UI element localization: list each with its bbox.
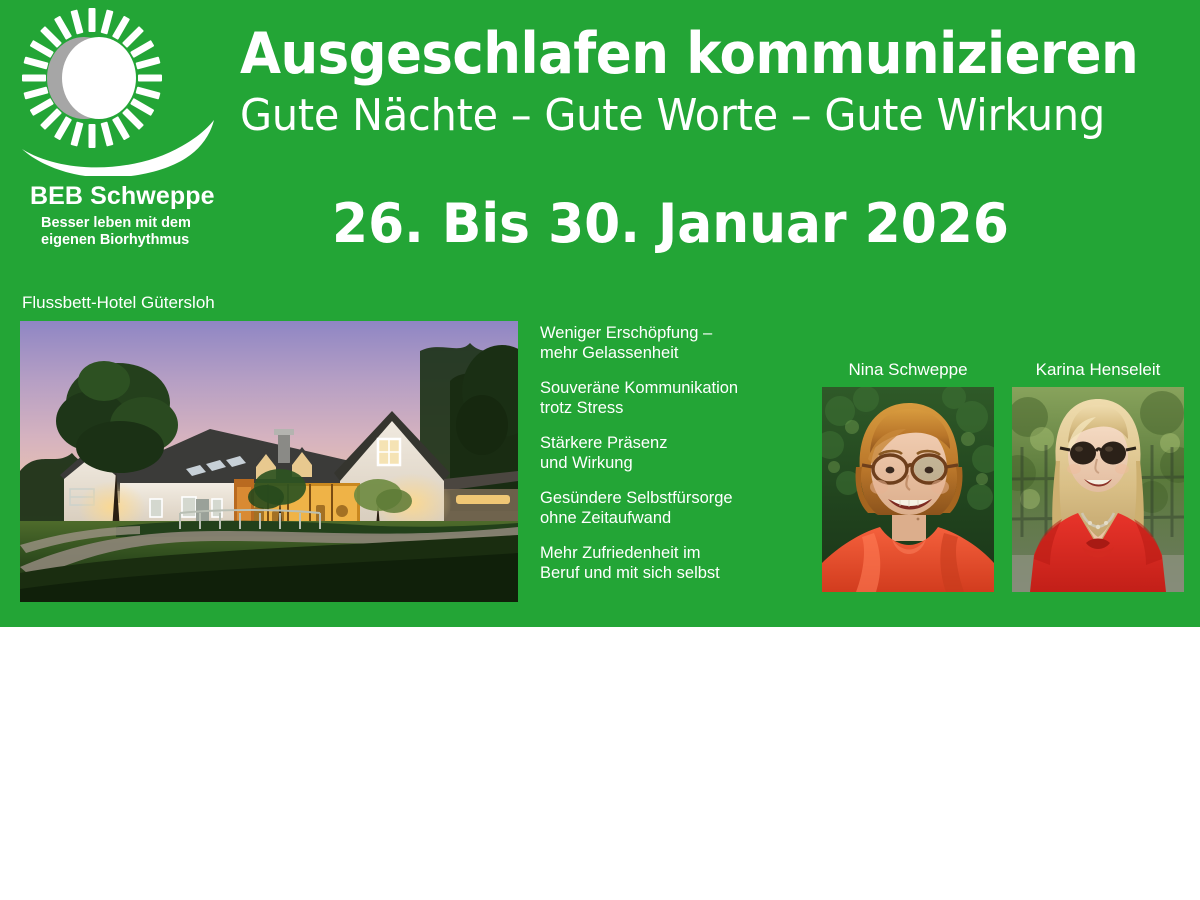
venue-caption: Flussbett-Hotel Gütersloh — [22, 293, 215, 313]
benefit-item: Mehr Zufriedenheit im Beruf und mit sich… — [540, 544, 790, 583]
speakers-block: Nina Schweppe — [822, 360, 1168, 592]
event-poster: BEB Schweppe Besser leben mit dem eigene… — [0, 0, 1200, 900]
benefits-list: Weniger Erschöpfung – mehr Gelassenheit … — [540, 324, 790, 583]
benefit-item: Souveräne Kommunikation trotz Stress — [540, 379, 790, 418]
headline-subtitle: Gute Nächte – Gute Worte – Gute Wirkung — [240, 91, 1124, 142]
speaker-portrait-photo — [822, 387, 994, 592]
speaker-portrait-photo — [1012, 387, 1184, 592]
benefit-item: Stärkere Präsenz und Wirkung — [540, 434, 790, 473]
hotel-exterior-photo — [20, 321, 518, 602]
benefit-item: Gesündere Selbstfürsorge ohne Zeitaufwan… — [540, 489, 790, 528]
headline-block: Ausgeschlafen kommunizieren Gute Nächte … — [240, 26, 1180, 142]
logo-title: BEB Schweppe — [30, 182, 215, 211]
brand-logo[interactable]: BEB Schweppe Besser leben mit dem eigene… — [14, 6, 229, 256]
benefit-item: Weniger Erschöpfung – mehr Gelassenheit — [540, 324, 790, 363]
green-banner-panel: BEB Schweppe Besser leben mit dem eigene… — [0, 0, 1200, 627]
logo-tagline: Besser leben mit dem eigenen Biorhythmus — [41, 215, 191, 249]
speaker-name: Nina Schweppe — [822, 360, 994, 380]
sun-moon-swoosh-icon — [14, 6, 229, 176]
event-date: 26. Bis 30. Januar 2026 — [332, 192, 1009, 255]
speaker-karina-henseleit: Karina Henseleit — [1012, 360, 1184, 592]
speaker-nina-schweppe: Nina Schweppe — [822, 360, 994, 592]
headline-main: Ausgeschlafen kommunizieren — [240, 26, 1114, 83]
speaker-name: Karina Henseleit — [1012, 360, 1184, 380]
white-footer-area — [0, 627, 1200, 900]
